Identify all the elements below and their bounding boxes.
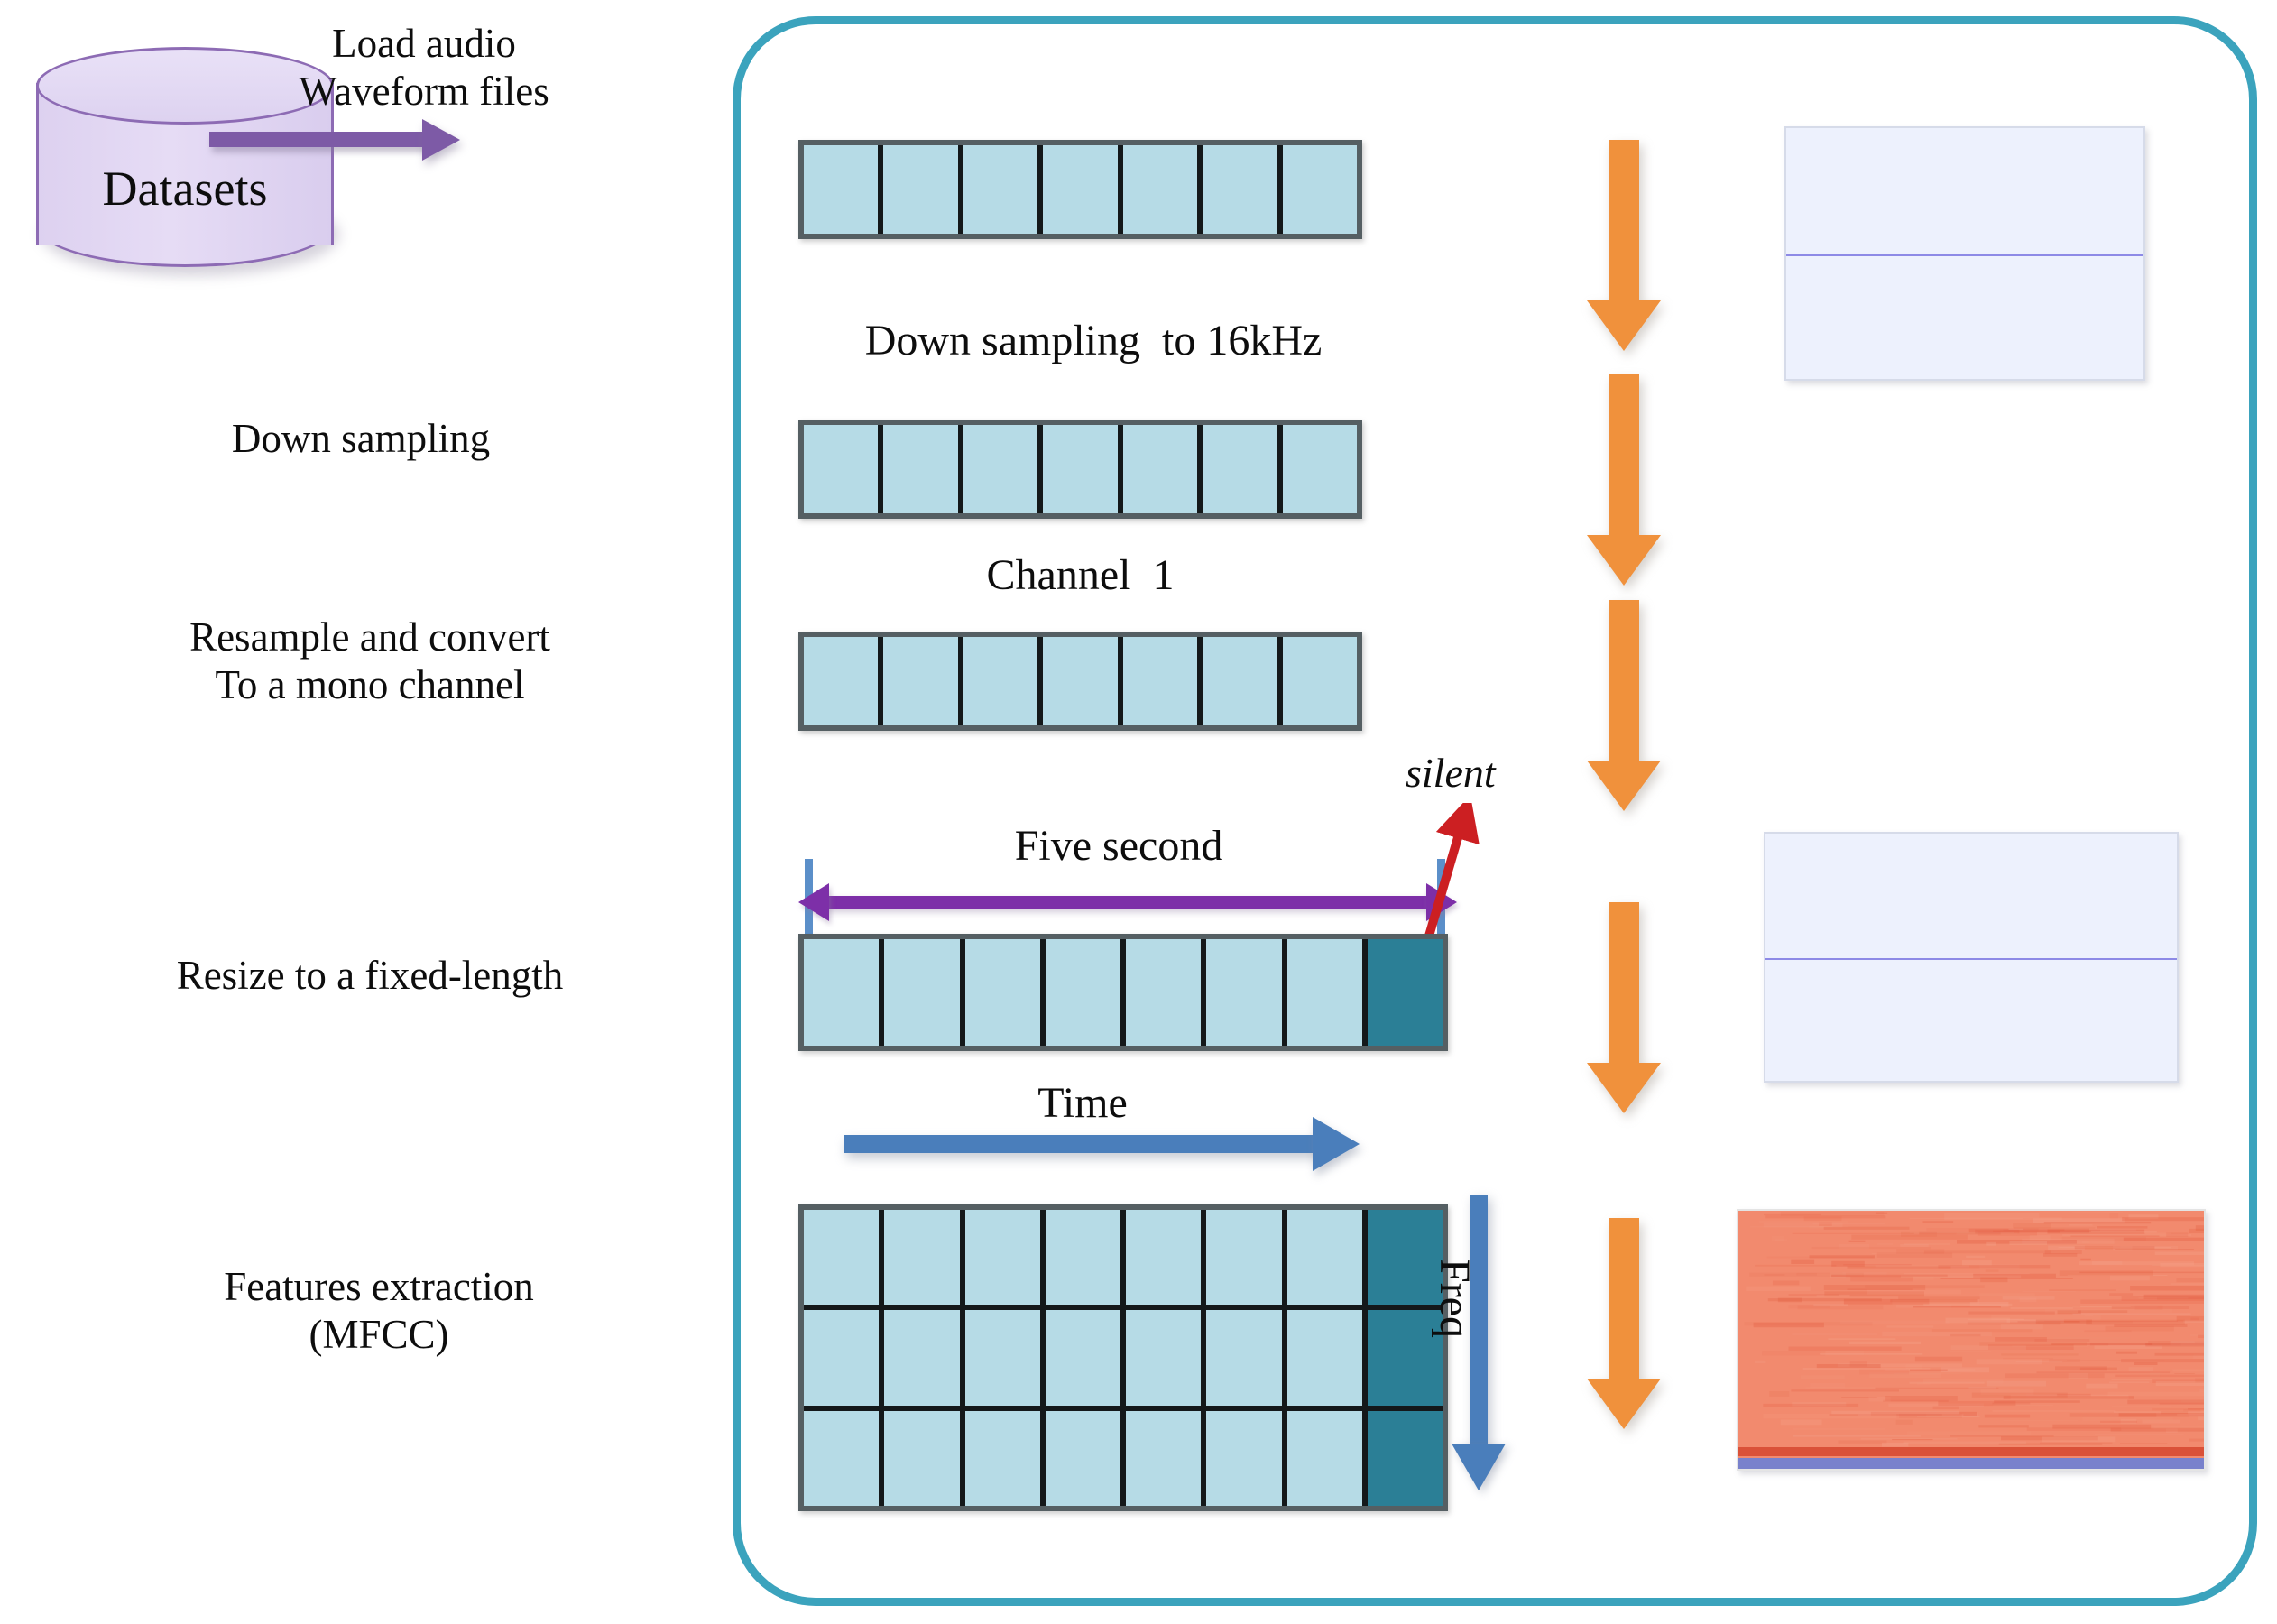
strip-downsampled: [798, 420, 1362, 519]
strip-cell: [1043, 425, 1122, 513]
strip-cell: [1283, 425, 1357, 513]
mfcc-cell-silent: [1368, 1411, 1443, 1506]
strip-cell: [963, 637, 1043, 725]
mfcc-cell: [1126, 1411, 1206, 1506]
strip-cell: [1123, 637, 1203, 725]
strip-cell: [883, 637, 963, 725]
mfcc-spectrogram-preview: [1737, 1209, 2206, 1471]
strip-cell: [1283, 145, 1357, 234]
five-second-arrow-head-left-icon: [798, 883, 829, 921]
mfcc-cell: [1206, 1310, 1286, 1405]
mfcc-row: [804, 1210, 1443, 1310]
caption-down-sampling-16khz: Down sampling to 16kHz: [778, 316, 1409, 367]
strip-cell: [1046, 939, 1126, 1046]
stage-label-resample-mono: Resample and convert To a mono channel: [54, 614, 686, 709]
strip-cell: [965, 939, 1046, 1046]
strip-cell: [1123, 425, 1203, 513]
mfcc-cell: [965, 1310, 1046, 1405]
strip-cell: [804, 145, 883, 234]
spectrogram-svg: [1738, 1211, 2206, 1471]
caption-time-axis: Time: [803, 1078, 1362, 1130]
mfcc-feature-grid: [798, 1204, 1448, 1511]
strip-resized-fixed-length: [798, 934, 1448, 1051]
mfcc-cell: [884, 1411, 964, 1506]
strip-cell: [1287, 939, 1368, 1046]
mfcc-cell: [1046, 1210, 1126, 1305]
flow-arrow-down-2-icon: [1609, 374, 1639, 586]
mfcc-cell: [1287, 1310, 1368, 1405]
strip-cell: [1203, 425, 1282, 513]
datasets-label: Datasets: [36, 161, 334, 218]
strip-mono-channel: [798, 632, 1362, 731]
flow-arrow-down-3-icon: [1609, 600, 1639, 811]
caption-five-second: Five second: [794, 821, 1443, 872]
mfcc-row: [804, 1310, 1443, 1410]
mfcc-cell: [884, 1310, 964, 1405]
strip-cell: [1123, 145, 1203, 234]
mfcc-cell: [804, 1210, 884, 1305]
flow-arrow-down-4-icon: [1609, 902, 1639, 1113]
caption-channel-1: Channel 1: [798, 550, 1362, 602]
strip-cell: [1126, 939, 1206, 1046]
stage-label-features-mfcc: Features extraction (MFCC): [99, 1263, 659, 1359]
waveform-svg: [1765, 834, 2179, 1083]
time-arrow-shaft: [844, 1135, 1322, 1153]
strip-cell: [963, 145, 1043, 234]
waveform-svg: [1786, 128, 2145, 381]
strip-cell: [883, 145, 963, 234]
load-arrow-head-icon: [422, 119, 460, 161]
strip-cell-silent-padding: [1368, 939, 1443, 1046]
strip-cell: [804, 939, 884, 1046]
mfcc-cell: [1046, 1411, 1126, 1506]
strip-cell: [1203, 637, 1282, 725]
mfcc-cell: [1287, 1411, 1368, 1506]
mfcc-row: [804, 1411, 1443, 1506]
mfcc-cell: [1287, 1210, 1368, 1305]
strip-cell: [884, 939, 964, 1046]
caption-silent: silent: [1406, 749, 1496, 798]
mfcc-cell: [1126, 1310, 1206, 1405]
five-second-arrow-shaft: [816, 896, 1439, 909]
strip-cell: [1206, 939, 1286, 1046]
mfcc-cell: [1206, 1411, 1286, 1506]
stage-label-down-sampling: Down sampling: [90, 415, 631, 463]
caption-freq-axis: Freq: [1428, 1259, 1480, 1338]
strip-cell: [1203, 145, 1282, 234]
strip-cell: [1283, 637, 1357, 725]
mfcc-cell: [1126, 1210, 1206, 1305]
mfcc-cell: [884, 1210, 964, 1305]
mfcc-cell: [804, 1411, 884, 1506]
strip-cell: [883, 425, 963, 513]
strip-cell: [1043, 637, 1122, 725]
freq-arrow-head-icon: [1452, 1444, 1506, 1490]
mfcc-cell: [965, 1210, 1046, 1305]
mfcc-cell: [804, 1310, 884, 1405]
flow-arrow-down-5-icon: [1609, 1218, 1639, 1429]
strip-original-audio: [798, 140, 1362, 239]
waveform-preview-resized: [1764, 832, 2179, 1083]
mfcc-cell: [1046, 1310, 1126, 1405]
stage-label-resize-fixed: Resize to a fixed-length: [54, 952, 686, 1000]
flow-arrow-down-1-icon: [1609, 140, 1639, 351]
time-arrow-head-icon: [1313, 1117, 1360, 1171]
strip-cell: [1043, 145, 1122, 234]
load-audio-edge-label: Load audio Waveform files: [217, 20, 631, 115]
mfcc-cell: [965, 1411, 1046, 1506]
load-arrow-shaft: [209, 132, 435, 147]
strip-cell: [804, 425, 883, 513]
strip-cell: [963, 425, 1043, 513]
waveform-preview-original: [1784, 126, 2145, 381]
strip-cell: [804, 637, 883, 725]
mfcc-cell: [1206, 1210, 1286, 1305]
